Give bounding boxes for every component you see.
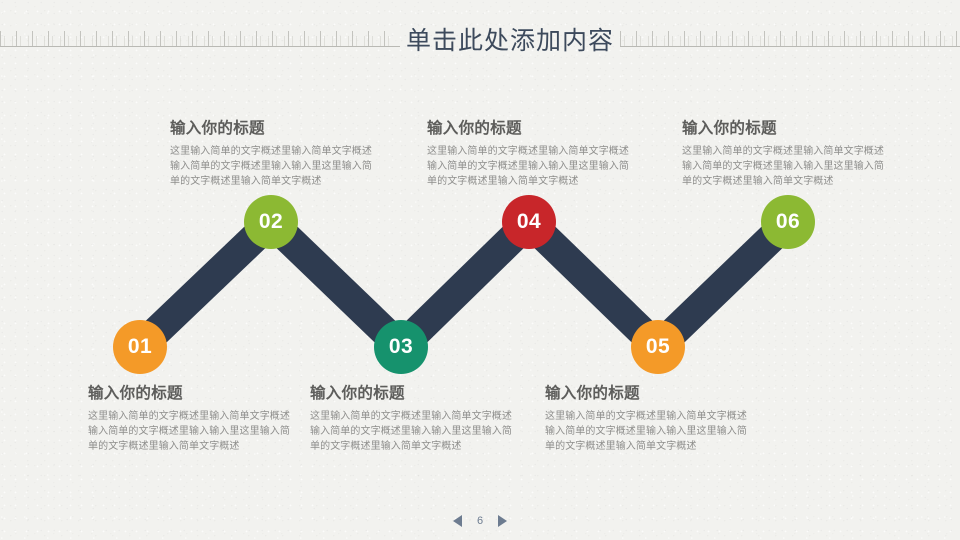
node-marker-04[interactable]: 04 <box>502 195 556 249</box>
page-title: 单击此处添加内容 <box>400 24 620 58</box>
ruler-line-left <box>0 46 400 47</box>
prev-arrow-icon[interactable] <box>453 515 462 527</box>
slide-header: 单击此处添加内容 <box>0 0 960 62</box>
zigzag-chart-line <box>0 0 960 540</box>
text-block-1: 输入你的标题这里输入简单的文字概述里输入简单文字概述输入简单的文字概述里输入输入… <box>170 118 378 189</box>
text-block-3: 输入你的标题这里输入简单的文字概述里输入简单文字概述输入简单的文字概述里输入输入… <box>682 118 890 189</box>
text-block-5: 输入你的标题这里输入简单的文字概述里输入简单文字概述输入简单的文字概述里输入输入… <box>310 383 518 454</box>
block-body: 这里输入简单的文字概述里输入简单文字概述输入简单的文字概述里输入输入里这里输入简… <box>427 144 635 189</box>
page-number: 6 <box>473 515 487 527</box>
block-title: 输入你的标题 <box>310 383 518 405</box>
block-title: 输入你的标题 <box>170 118 378 140</box>
text-block-6: 输入你的标题这里输入简单的文字概述里输入简单文字概述输入简单的文字概述里输入输入… <box>545 383 753 454</box>
block-title: 输入你的标题 <box>682 118 890 140</box>
node-marker-03[interactable]: 03 <box>374 320 428 374</box>
block-title: 输入你的标题 <box>427 118 635 140</box>
next-arrow-icon[interactable] <box>498 515 507 527</box>
node-marker-05[interactable]: 05 <box>631 320 685 374</box>
block-title: 输入你的标题 <box>88 383 296 405</box>
block-body: 这里输入简单的文字概述里输入简单文字概述输入简单的文字概述里输入输入里这里输入简… <box>88 409 296 454</box>
node-marker-01[interactable]: 01 <box>113 320 167 374</box>
ruler-line-right <box>620 46 960 47</box>
ruler-minor-ticks-left <box>4 36 396 46</box>
block-body: 这里输入简单的文字概述里输入简单文字概述输入简单的文字概述里输入输入里这里输入简… <box>545 409 753 454</box>
node-marker-06[interactable]: 06 <box>761 195 815 249</box>
zigzag-polyline <box>140 222 788 347</box>
node-marker-02[interactable]: 02 <box>244 195 298 249</box>
block-body: 这里输入简单的文字概述里输入简单文字概述输入简单的文字概述里输入输入里这里输入简… <box>170 144 378 189</box>
text-block-4: 输入你的标题这里输入简单的文字概述里输入简单文字概述输入简单的文字概述里输入输入… <box>88 383 296 454</box>
ruler-minor-ticks-right <box>624 36 956 46</box>
block-body: 这里输入简单的文字概述里输入简单文字概述输入简单的文字概述里输入输入里这里输入简… <box>310 409 518 454</box>
slide-footer: 6 <box>0 510 960 532</box>
slide-canvas: 单击此处添加内容 010203040506 输入你的标题这里输入简单的文字概述里… <box>0 0 960 540</box>
block-title: 输入你的标题 <box>545 383 753 405</box>
text-block-2: 输入你的标题这里输入简单的文字概述里输入简单文字概述输入简单的文字概述里输入输入… <box>427 118 635 189</box>
block-body: 这里输入简单的文字概述里输入简单文字概述输入简单的文字概述里输入输入里这里输入简… <box>682 144 890 189</box>
